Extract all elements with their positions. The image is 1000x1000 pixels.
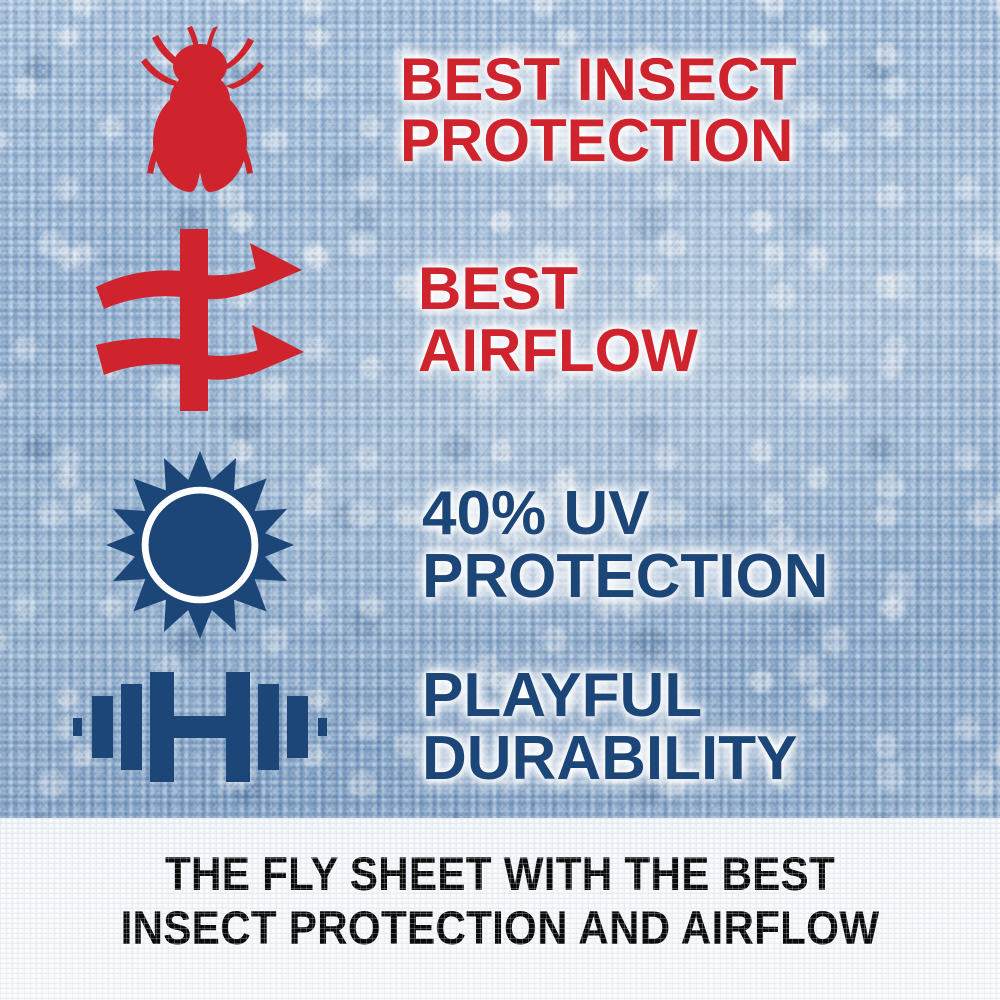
infographic-canvas: BEST INSECT PROTECTION [0, 0, 1000, 1000]
sun-uv-icon [102, 447, 298, 643]
feature-label-insect-protection: BEST INSECT PROTECTION [400, 49, 1000, 171]
airflow-arrows-through-barrier-icon [92, 227, 308, 413]
caption-band: THE FLY SHEET WITH THE BEST INSECT PROTE… [0, 818, 1000, 1000]
feature-label-airflow: BEST AIRFLOW [418, 258, 1000, 380]
airflow-icon-cell [0, 227, 400, 413]
fly-icon-cell [0, 22, 400, 198]
feature-row-insect-protection: BEST INSECT PROTECTION [0, 20, 1000, 200]
feature-label-durability: PLAYFUL DURABILITY [422, 664, 1000, 790]
caption-headline: THE FLY SHEET WITH THE BEST INSECT PROTE… [50, 818, 950, 954]
sun-icon-cell [0, 447, 400, 643]
feature-label-uv-protection: 40% UV PROTECTION [422, 482, 1000, 608]
feature-row-uv-protection: 40% UV PROTECTION [0, 440, 1000, 650]
feature-row-airflow: BEST AIRFLOW [0, 222, 1000, 417]
fly-icon [125, 22, 275, 198]
dumbbell-icon-cell [0, 664, 400, 790]
feature-row-durability: PLAYFUL DURABILITY [0, 652, 1000, 802]
dumbbell-icon [73, 664, 327, 790]
